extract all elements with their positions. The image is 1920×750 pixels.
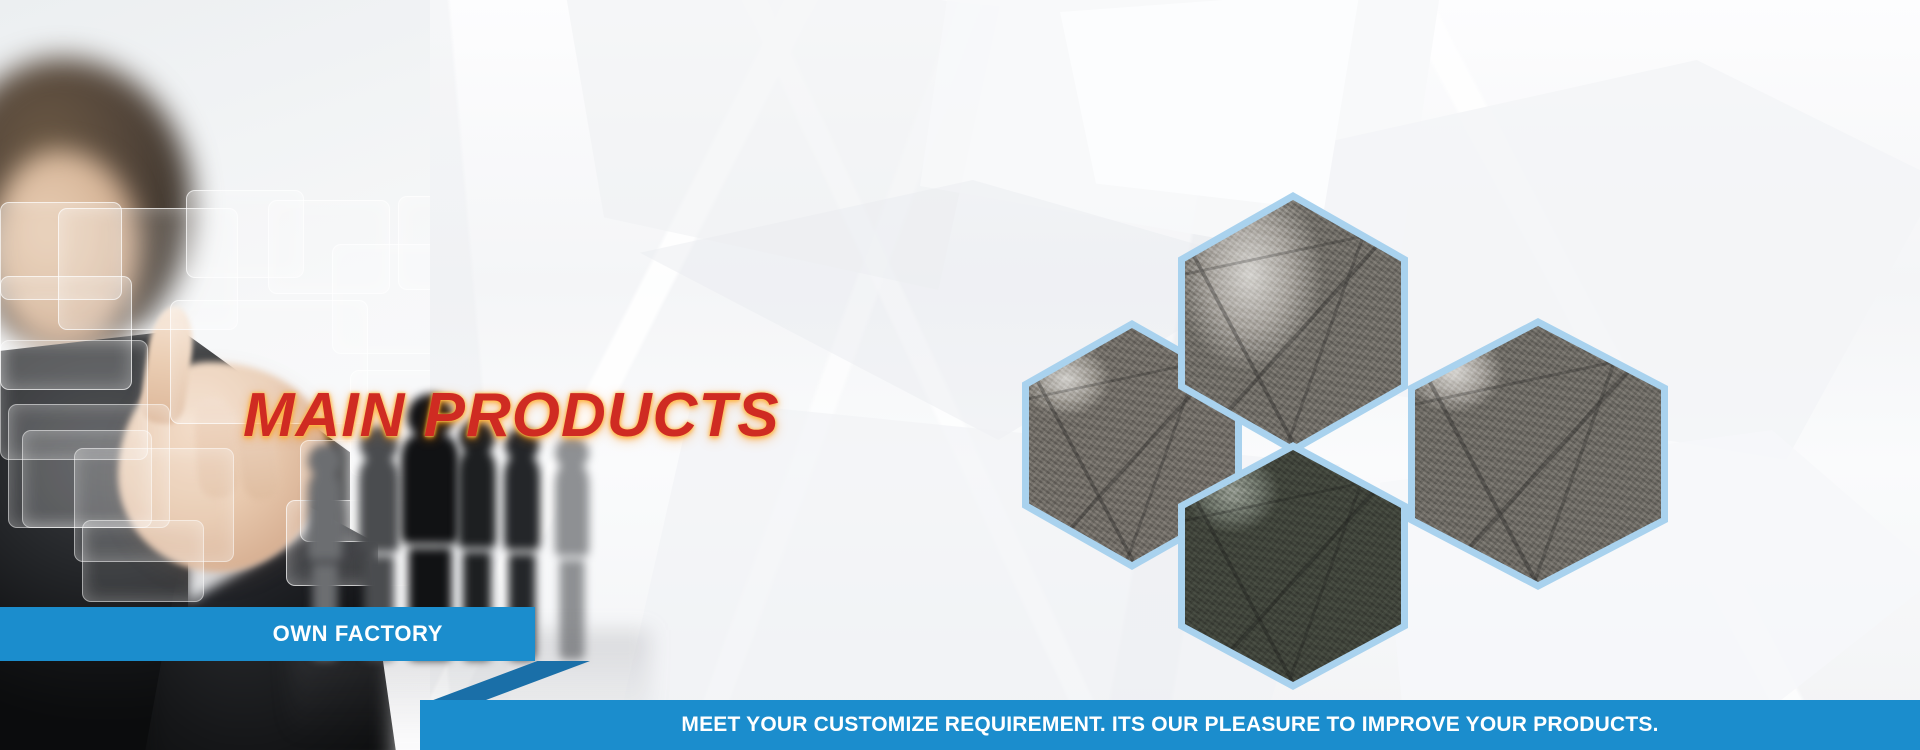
silhouette-body <box>555 466 589 556</box>
tagline-ribbon[interactable]: MEET YOUR CUSTOMIZE REQUIREMENT. ITS OUR… <box>420 700 1920 750</box>
silhouette-body <box>308 474 342 560</box>
ore-cracks <box>1415 326 1661 582</box>
hex-right-image <box>1415 326 1661 582</box>
silhouette-6 <box>556 436 588 660</box>
main-products-banner: MAIN PRODUCTS <box>0 0 1920 750</box>
own-factory-ribbon[interactable]: OWN FACTORY <box>0 607 535 661</box>
virtual-screen-rect-7 <box>398 196 430 290</box>
silhouette-body <box>401 436 459 544</box>
ore-cracks <box>1185 450 1401 682</box>
hex-bottom-image <box>1185 450 1401 682</box>
page-title: MAIN PRODUCTS <box>243 380 780 451</box>
virtual-screen-rect-14 <box>82 520 204 602</box>
silhouette-body <box>359 460 399 552</box>
virtual-screen-rect-13 <box>22 430 152 528</box>
own-factory-label: OWN FACTORY <box>273 621 443 647</box>
silhouette-body <box>458 452 496 548</box>
background-polygon-g <box>1060 0 1360 210</box>
ore-cracks <box>1185 200 1401 446</box>
silhouette-body <box>504 458 540 550</box>
hex-top-center-image <box>1185 200 1401 446</box>
tagline-text: MEET YOUR CUSTOMIZE REQUIREMENT. ITS OUR… <box>420 713 1920 737</box>
